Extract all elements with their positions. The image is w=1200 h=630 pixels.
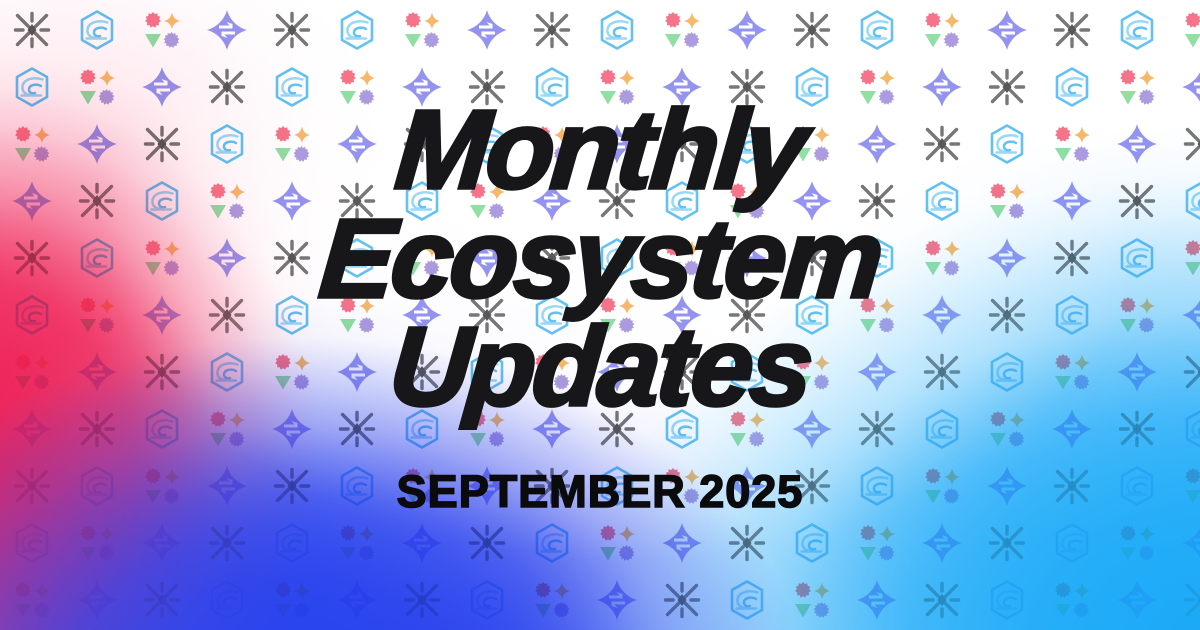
hexagon-swirl-icon (790, 521, 834, 565)
hexagon-swirl-icon (725, 578, 769, 622)
asterisk-star-icon (270, 8, 314, 52)
asterisk-star-icon (400, 578, 444, 622)
hexagon-swirl-icon (205, 578, 249, 622)
shape-cluster-icon (270, 578, 314, 622)
diamond-swap-icon (465, 8, 509, 52)
shape-cluster-icon (335, 521, 379, 565)
shape-cluster-icon (920, 8, 964, 52)
diamond-swap-icon (595, 578, 639, 622)
headline-line-3: Updates (0, 313, 1200, 422)
asterisk-star-icon (10, 8, 54, 52)
shape-cluster-icon (855, 521, 899, 565)
hexagon-swirl-icon (335, 8, 379, 52)
hexagon-swirl-icon (465, 578, 509, 622)
shape-cluster-icon (660, 8, 704, 52)
diamond-swap-icon (75, 578, 119, 622)
hexagon-swirl-icon (595, 8, 639, 52)
asterisk-star-icon (725, 521, 769, 565)
diamond-swap-icon (920, 521, 964, 565)
diamond-swap-icon (725, 8, 769, 52)
shape-cluster-icon (1050, 578, 1094, 622)
diamond-swap-icon (400, 521, 444, 565)
diamond-swap-icon (985, 8, 1029, 52)
shape-cluster-icon (790, 578, 834, 622)
asterisk-star-icon (465, 521, 509, 565)
asterisk-star-icon (205, 521, 249, 565)
hexagon-swirl-icon (10, 521, 54, 565)
ecosystem-updates-banner: Monthly Ecosystem Updates SEPTEMBER 2025 (0, 0, 1200, 630)
shape-cluster-icon (1180, 8, 1200, 52)
hexagon-swirl-icon (75, 8, 119, 52)
asterisk-star-icon (660, 578, 704, 622)
diamond-swap-icon (140, 521, 184, 565)
shape-cluster-icon (530, 578, 574, 622)
asterisk-star-icon (985, 521, 1029, 565)
asterisk-star-icon (920, 578, 964, 622)
hexagon-swirl-icon (270, 521, 314, 565)
page-title: Monthly Ecosystem Updates (0, 96, 1200, 422)
diamond-swap-icon (855, 578, 899, 622)
hexagon-swirl-icon (985, 578, 1029, 622)
hexagon-swirl-icon (530, 521, 574, 565)
asterisk-star-icon (790, 8, 834, 52)
asterisk-star-icon (1180, 578, 1200, 622)
headline-line-2: Ecosystem (0, 205, 1200, 314)
shape-cluster-icon (400, 8, 444, 52)
shape-cluster-icon (1115, 521, 1159, 565)
subtitle-date: SEPTEMBER 2025 (0, 466, 1200, 518)
shape-cluster-icon (140, 8, 184, 52)
asterisk-star-icon (1050, 8, 1094, 52)
shape-cluster-icon (595, 521, 639, 565)
diamond-swap-icon (1115, 578, 1159, 622)
shape-cluster-icon (10, 578, 54, 622)
diamond-swap-icon (205, 8, 249, 52)
diamond-swap-icon (660, 521, 704, 565)
hexagon-swirl-icon (1050, 521, 1094, 565)
hexagon-swirl-icon (1115, 8, 1159, 52)
asterisk-star-icon (140, 578, 184, 622)
diamond-swap-icon (1180, 521, 1200, 565)
hexagon-swirl-icon (855, 8, 899, 52)
asterisk-star-icon (530, 8, 574, 52)
headline-line-1: Monthly (0, 96, 1200, 205)
shape-cluster-icon (75, 521, 119, 565)
diamond-swap-icon (335, 578, 379, 622)
